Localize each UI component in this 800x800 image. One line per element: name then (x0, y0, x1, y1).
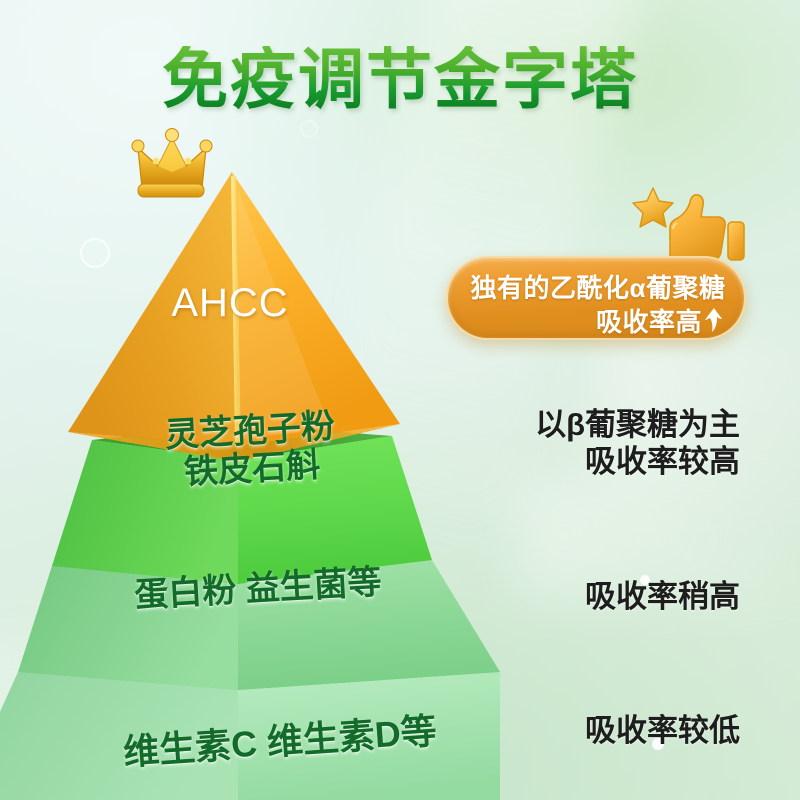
highlight-badge[interactable]: 独有的乙酰化α葡聚糖 吸收率高 (446, 256, 746, 340)
badge-line-2: 吸收率高 (448, 302, 748, 339)
tier-2-note: 以β葡聚糖为主 吸收率较高 (470, 406, 740, 480)
thumbs-up-icon (670, 195, 744, 260)
thumb-star-group (632, 184, 752, 266)
up-arrow-icon (704, 307, 724, 333)
badge-line-1: 独有的乙酰化α葡聚糖 (448, 268, 748, 305)
tier-4-note-line-1: 吸收率较低 (470, 712, 740, 749)
star-icon (633, 188, 673, 227)
tier-2-note-line-1: 以β葡聚糖为主 (470, 406, 740, 443)
tier-2-note-line-2: 吸收率较高 (470, 443, 740, 480)
apex-label: AHCC (150, 281, 310, 326)
crown-icon (128, 126, 244, 204)
poster-canvas: 免疫调节金字塔 (0, 0, 800, 800)
badge-line-2-text: 吸收率高 (596, 307, 702, 337)
pyramid-graphic: AHCC 灵芝孢子粉 铁皮石斛 蛋白粉 益生菌等 维生素C 维生素D等 (0, 0, 500, 800)
tier-4-note: 吸收率较低 (470, 712, 740, 749)
tier-3-note: 吸收率稍高 (470, 578, 740, 615)
tier-4-shape (0, 0, 800, 800)
tier-3-note-line-1: 吸收率稍高 (470, 578, 740, 615)
